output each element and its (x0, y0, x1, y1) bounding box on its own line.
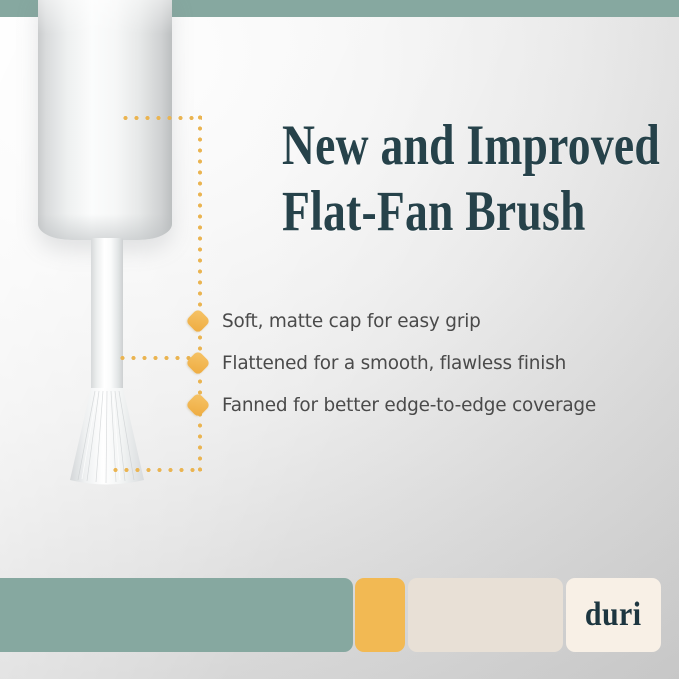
brand-bar-segment-teal (0, 578, 353, 652)
feature-text: Soft, matte cap for easy grip (222, 310, 481, 332)
diamond-bullet-icon (186, 309, 210, 333)
headline-line-2: Flat-Fan Brush (282, 184, 586, 240)
dotted-branch-to-cap (120, 115, 202, 121)
brand-bar-segment-gold (355, 578, 405, 652)
feature-text: Flattened for a smooth, flawless finish (222, 352, 566, 374)
brand-bar: duri (0, 578, 679, 652)
feature-list: Soft, matte cap for easy grip Flattened … (186, 300, 656, 426)
list-item: Flattened for a smooth, flawless finish (186, 342, 656, 384)
diamond-bullet-icon (186, 351, 210, 375)
brand-bar-segment-beige (408, 578, 563, 652)
brand-logo-tile: duri (566, 578, 661, 652)
cap-shadow (38, 214, 172, 240)
product-image-flat-fan-brush (0, 0, 260, 520)
brush-stem-icon (91, 238, 123, 394)
product-feature-ad: New and Improved Flat-Fan Brush Soft, ma… (0, 0, 679, 679)
list-item: Fanned for better edge-to-edge coverage (186, 384, 656, 426)
dotted-branch-to-bristles (110, 467, 202, 473)
headline: New and Improved Flat-Fan Brush (282, 118, 662, 240)
brand-logo-text: duri (585, 598, 642, 632)
diamond-bullet-icon (186, 393, 210, 417)
headline-line-1: New and Improved (282, 118, 586, 174)
cap-highlight (38, 0, 172, 34)
list-item: Soft, matte cap for easy grip (186, 300, 656, 342)
feature-text: Fanned for better edge-to-edge coverage (222, 394, 596, 416)
